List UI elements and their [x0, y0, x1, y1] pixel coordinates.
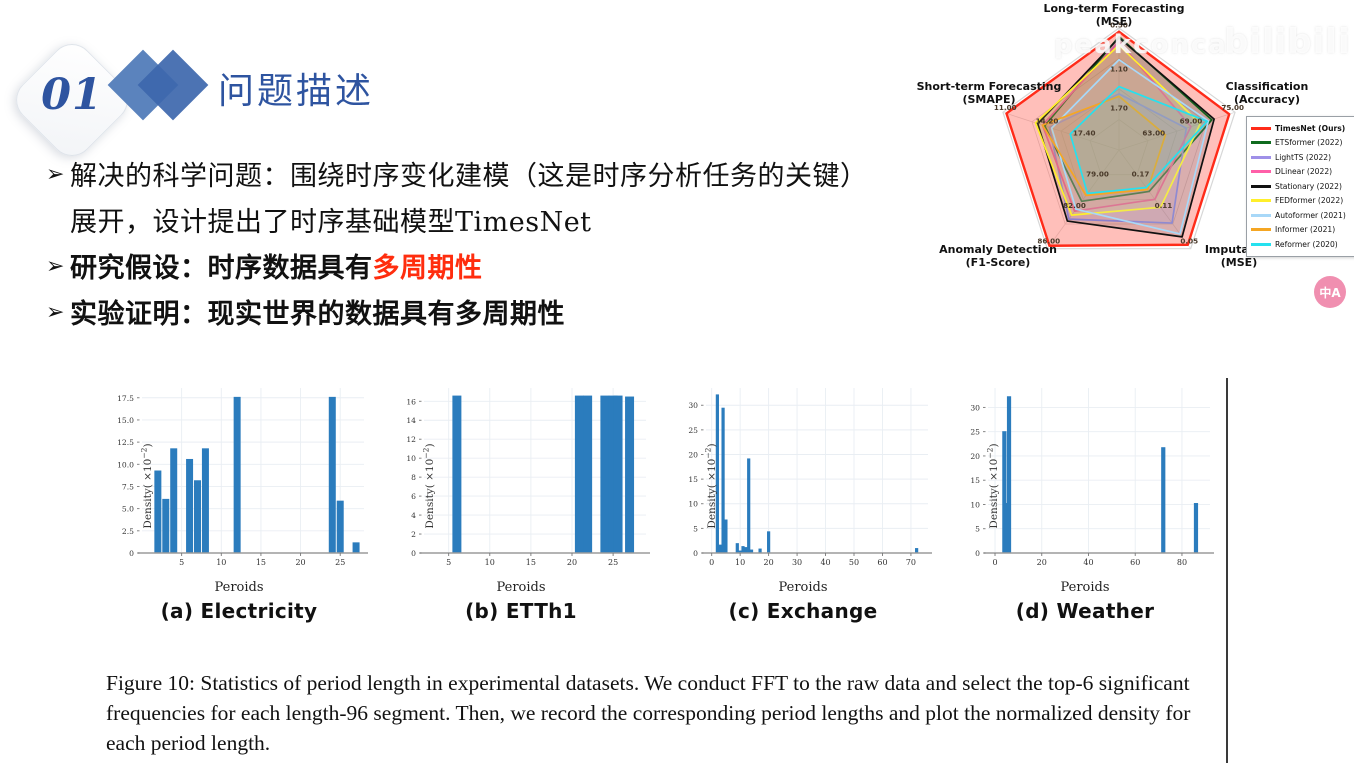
svg-text:30: 30 — [970, 403, 980, 412]
bar — [162, 499, 169, 553]
svg-text:0: 0 — [709, 558, 714, 567]
bar — [154, 471, 161, 554]
svg-text:15: 15 — [970, 476, 980, 485]
bar — [1161, 447, 1165, 553]
svg-text:10: 10 — [216, 558, 226, 567]
legend-label: FEDformer (2022) — [1275, 196, 1343, 205]
bar — [767, 531, 770, 553]
legend-item-6: Autoformer (2021) — [1251, 208, 1354, 223]
chart-xlabel: Peroids — [944, 580, 1226, 595]
charts-row: 02.55.07.510.012.515.017.5510152025Densi… — [98, 378, 1226, 623]
svg-text:4: 4 — [411, 511, 416, 520]
legend-item-2: LightTS (2022) — [1251, 150, 1354, 165]
bullet-highlight-3: 多周期性 — [373, 252, 483, 286]
svg-text:0.17: 0.17 — [1132, 170, 1150, 179]
chart-plot-2: 051015202530010203040506070Density( ×10−… — [662, 378, 944, 593]
svg-text:25: 25 — [608, 558, 618, 567]
radar-axis-label-short-term: Short-term Forecasting (SMAPE) — [914, 80, 1064, 106]
bar — [625, 397, 634, 553]
bar — [614, 396, 623, 553]
bar — [721, 408, 724, 553]
svg-text:16: 16 — [406, 397, 416, 406]
legend-color-swatch — [1251, 127, 1271, 130]
radar-axis-label-anomaly: Anomaly Detection (F1-Score) — [928, 243, 1068, 269]
legend-color-swatch — [1251, 156, 1271, 159]
chart-ylabel: Density( ×10−2) — [703, 443, 718, 528]
legend-item-0: TimesNet (Ours) — [1251, 121, 1354, 136]
chart-cell-2: 051015202530010203040506070Density( ×10−… — [662, 378, 944, 623]
bar — [719, 545, 722, 553]
svg-text:25: 25 — [970, 428, 980, 437]
svg-text:20: 20 — [295, 558, 305, 567]
paper-crop-edge — [1226, 378, 1228, 763]
bar — [452, 396, 461, 553]
legend-label: DLinear (2022) — [1275, 167, 1332, 176]
svg-text:63.00: 63.00 — [1142, 129, 1165, 138]
legend-color-swatch — [1251, 214, 1271, 217]
legend-item-7: Informer (2021) — [1251, 223, 1354, 238]
chart-plot-0: 02.55.07.510.012.515.017.5510152025Densi… — [98, 378, 380, 593]
page-title: 问题描述 — [218, 62, 374, 114]
svg-text:0: 0 — [693, 549, 698, 558]
figure-caption: Figure 10: Statistics of period length i… — [106, 668, 1221, 758]
legend-label: LightTS (2022) — [1275, 153, 1331, 162]
chart-subcaption: (d) Weather — [944, 599, 1226, 623]
svg-text:10: 10 — [735, 558, 745, 567]
legend-label: ETSformer (2022) — [1275, 138, 1342, 147]
svg-text:0: 0 — [992, 558, 997, 567]
bullet-list: ➢ 解决的科学问题：围绕时序变化建模（这是时序分析任务的关键） 展开，设计提出了… — [46, 160, 926, 344]
legend-color-swatch — [1251, 199, 1271, 202]
section-number: 01 — [18, 70, 126, 120]
legend-item-4: Stationary (2022) — [1251, 179, 1354, 194]
legend-color-swatch — [1251, 185, 1271, 188]
bar — [600, 396, 609, 553]
list-item: ➢ 解决的科学问题：围绕时序变化建模（这是时序分析任务的关键） — [46, 160, 926, 194]
svg-text:60: 60 — [1130, 558, 1140, 567]
legend-label: Stationary (2022) — [1275, 182, 1342, 191]
svg-text:60: 60 — [877, 558, 887, 567]
svg-text:17.40: 17.40 — [1073, 129, 1096, 138]
svg-text:20: 20 — [567, 558, 577, 567]
svg-text:20: 20 — [1037, 558, 1047, 567]
radar-axis-label-long-term: Long-term Forecasting (MSE) — [1034, 2, 1194, 28]
list-item: ➢ 实验证明：现实世界的数据具有多周期性 — [46, 298, 926, 332]
svg-text:7.5: 7.5 — [122, 482, 134, 491]
legend-color-swatch — [1251, 141, 1271, 144]
legend-item-5: FEDformer (2022) — [1251, 194, 1354, 209]
svg-text:69.00: 69.00 — [1180, 117, 1203, 126]
svg-text:25: 25 — [335, 558, 345, 567]
chart-plot-1: 0246810121416510152025Density( ×10−2)Per… — [380, 378, 662, 593]
legend-color-swatch — [1251, 228, 1271, 231]
bar — [741, 546, 744, 553]
legend-label: TimesNet (Ours) — [1275, 124, 1345, 133]
bullet-text-1: 解决的科学问题：围绕时序变化建模（这是时序分析任务的关键） — [70, 160, 868, 194]
svg-text:5: 5 — [446, 558, 451, 567]
svg-text:17.5: 17.5 — [117, 394, 134, 403]
bar — [1007, 396, 1011, 553]
legend-label: Reformer (2020) — [1275, 240, 1338, 249]
chart-xlabel: Peroids — [662, 580, 944, 595]
bar — [724, 520, 727, 553]
svg-text:20: 20 — [688, 450, 698, 459]
bar — [353, 542, 360, 553]
bar — [194, 480, 201, 553]
svg-text:15.0: 15.0 — [117, 416, 134, 425]
radar-axis-label-classification: Classification (Accuracy) — [1212, 80, 1322, 106]
svg-text:82.00: 82.00 — [1063, 201, 1086, 210]
svg-text:15: 15 — [256, 558, 266, 567]
bar — [234, 397, 241, 553]
chart-cell-3: 051015202530020406080Density( ×10−2)Pero… — [944, 378, 1226, 623]
figure-block: 02.55.07.510.012.515.017.5510152025Densi… — [98, 378, 1228, 763]
svg-text:2.5: 2.5 — [122, 527, 134, 536]
bullet-text-2: 展开，设计提出了时序基础模型TimesNet — [70, 206, 592, 240]
bar — [736, 543, 739, 553]
svg-text:2: 2 — [411, 530, 416, 539]
chart-cell-1: 0246810121416510152025Density( ×10−2)Per… — [380, 378, 662, 623]
svg-text:12.5: 12.5 — [117, 438, 134, 447]
legend-item-1: ETSformer (2022) — [1251, 136, 1354, 151]
bar — [1194, 503, 1198, 553]
svg-text:14.20: 14.20 — [1036, 117, 1059, 126]
radar-chart-panel: 0.501.101.7075.0069.0063.000.050.110.178… — [912, 0, 1354, 290]
svg-text:10: 10 — [406, 454, 416, 463]
svg-text:8: 8 — [411, 473, 416, 482]
legend-item-8: Reformer (2020) — [1251, 237, 1354, 252]
svg-text:30: 30 — [688, 401, 698, 410]
svg-text:20: 20 — [764, 558, 774, 567]
svg-text:25: 25 — [688, 426, 698, 435]
svg-text:5: 5 — [975, 525, 980, 534]
bullet-text-4: 实验证明：现实世界的数据具有多周期性 — [70, 298, 565, 332]
svg-text:10: 10 — [688, 500, 698, 509]
svg-text:80: 80 — [1177, 558, 1187, 567]
legend-item-3: DLinear (2022) — [1251, 165, 1354, 180]
svg-text:30: 30 — [792, 558, 802, 567]
svg-text:50: 50 — [849, 558, 859, 567]
legend-color-swatch — [1251, 170, 1271, 173]
bar — [170, 448, 177, 553]
chart-xlabel: Peroids — [380, 580, 662, 595]
bar — [186, 459, 193, 553]
svg-text:79.00: 79.00 — [1086, 170, 1109, 179]
svg-text:0: 0 — [975, 549, 980, 558]
bar — [747, 458, 750, 553]
svg-text:0: 0 — [129, 549, 134, 558]
chart-ylabel: Density( ×10−2) — [421, 443, 436, 528]
list-item: 展开，设计提出了时序基础模型TimesNet — [46, 206, 926, 240]
svg-text:70: 70 — [906, 558, 916, 567]
svg-text:40: 40 — [820, 558, 830, 567]
chart-ylabel: Density( ×10−2) — [985, 443, 1000, 528]
bar — [744, 547, 747, 553]
svg-text:5.0: 5.0 — [122, 505, 134, 514]
svg-text:6: 6 — [411, 492, 416, 501]
section-number-badge: 01 — [18, 48, 130, 156]
svg-text:0: 0 — [411, 549, 416, 558]
svg-text:10: 10 — [970, 500, 980, 509]
arrow-bullet-icon: ➢ — [46, 252, 70, 282]
chart-subcaption: (c) Exchange — [662, 599, 944, 623]
chart-plot-3: 051015202530020406080Density( ×10−2)Pero… — [944, 378, 1226, 593]
chart-ylabel: Density( ×10−2) — [139, 443, 154, 528]
bar — [202, 448, 209, 553]
chart-xlabel: Peroids — [98, 580, 380, 595]
bar — [575, 396, 584, 553]
bar — [337, 501, 344, 553]
svg-text:5: 5 — [693, 524, 698, 533]
svg-text:0.11: 0.11 — [1155, 201, 1173, 210]
svg-text:40: 40 — [1083, 558, 1093, 567]
legend-color-swatch — [1251, 243, 1271, 246]
svg-text:1.10: 1.10 — [1110, 64, 1128, 73]
svg-text:14: 14 — [406, 416, 416, 425]
bullet-text-3: 研究假设：时序数据具有 — [70, 252, 373, 286]
arrow-bullet-icon: ➢ — [46, 298, 70, 328]
chart-subcaption: (b) ETTh1 — [380, 599, 662, 623]
chart-subcaption: (a) Electricity — [98, 599, 380, 623]
svg-text:20: 20 — [970, 452, 980, 461]
svg-text:10: 10 — [485, 558, 495, 567]
radar-legend: TimesNet (Ours)ETSformer (2022)LightTS (… — [1246, 116, 1354, 257]
legend-label: Autoformer (2021) — [1275, 211, 1346, 220]
chart-cell-0: 02.55.07.510.012.515.017.5510152025Densi… — [98, 378, 380, 623]
list-item: ➢ 研究假设：时序数据具有 多周期性 — [46, 252, 926, 286]
translate-button[interactable]: 中A — [1314, 276, 1346, 308]
arrow-bullet-icon: ➢ — [46, 160, 70, 190]
svg-text:1.70: 1.70 — [1110, 103, 1128, 112]
svg-text:5: 5 — [179, 558, 184, 567]
svg-text:15: 15 — [526, 558, 536, 567]
svg-text:10.0: 10.0 — [117, 460, 134, 469]
svg-text:15: 15 — [688, 475, 698, 484]
bar — [329, 397, 336, 553]
bar — [583, 396, 592, 553]
legend-label: Informer (2021) — [1275, 225, 1335, 234]
svg-text:12: 12 — [406, 435, 416, 444]
